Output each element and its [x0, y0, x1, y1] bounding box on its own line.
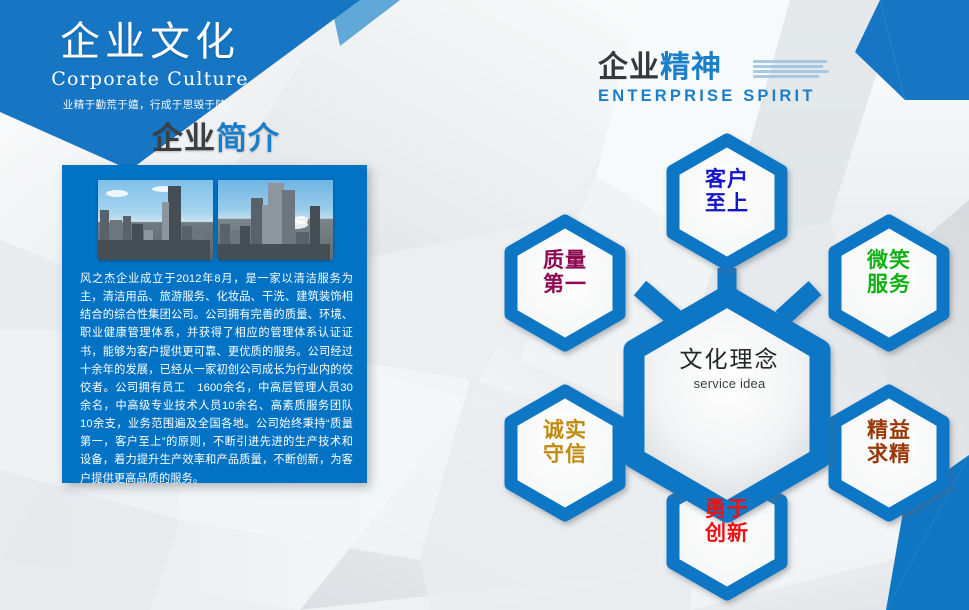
- spirit-title-en: ENTERPRISE SPIRIT: [598, 87, 848, 106]
- spirit-title-dark: 企业: [598, 51, 660, 84]
- intro-heading-blue: 简介: [216, 121, 280, 156]
- spirit-title-blue: 精神: [660, 51, 722, 84]
- company-intro-card: 风之杰企业成立于2012年8月，是一家以清洁服务为主，清洁用品、旅游服务、化妆品…: [62, 165, 367, 483]
- city-skyline-photo-a: [98, 180, 213, 260]
- enterprise-spirit-heading: 企业精神 ENTERPRISE SPIRIT: [598, 52, 848, 106]
- hex-lower-right: [835, 391, 943, 515]
- hex-upper-right: [835, 221, 943, 345]
- hex-lower-left: [511, 391, 619, 515]
- photo-row: [98, 180, 333, 260]
- poster-canvas: 企业文化 Corporate Culture 业精于勤荒于嬉，行成于思毁于随。 …: [0, 0, 969, 610]
- intro-heading: 企业简介: [152, 113, 280, 158]
- hex-top: [673, 140, 781, 264]
- culture-hex-diagram: 客户 至上 质量 第一 微笑 服务 诚实 守信 精益 求精 勇于 创新 文化理念…: [490, 118, 969, 610]
- hex-upper-left: [511, 221, 619, 345]
- intro-heading-dark: 企业: [152, 121, 216, 156]
- decorative-micro-text: [753, 54, 829, 84]
- hex-center: [634, 296, 820, 512]
- hex-center-label-en: service idea: [490, 376, 969, 391]
- city-skyline-photo-b: [218, 180, 333, 260]
- company-intro-text: 风之杰企业成立于2012年8月，是一家以清洁服务为主，清洁用品、旅游服务、化妆品…: [80, 270, 353, 488]
- hex-center-label-cn: 文化理念: [490, 340, 969, 374]
